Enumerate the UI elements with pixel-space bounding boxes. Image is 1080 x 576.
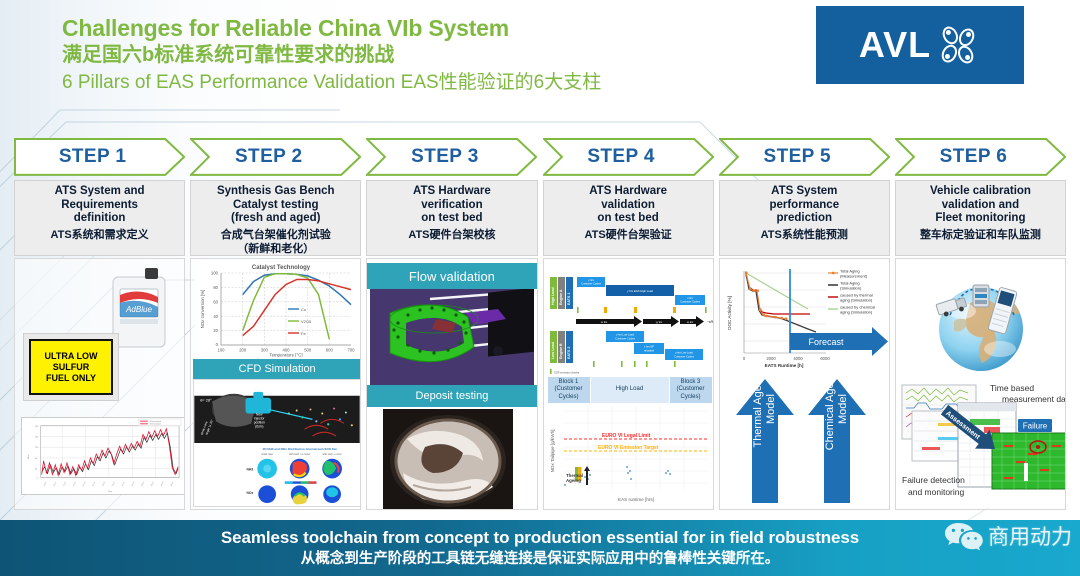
svg-text:Engine B: Engine B [559,343,563,359]
catalyst-technology-chart: Catalyst Technology [195,261,359,357]
ageing-model-arrows: Thermal AgeingModel Chemical AgeingModel [730,377,882,507]
ultra-low-sulfur-sign: ULTRA LOW SULFUR FUEL ONLY [29,339,113,395]
svg-text:y hrs Low Load: y hrs Low Load [616,333,634,337]
thermal-ageing-model-arrow: Thermal AgeingModel [734,377,796,505]
wechat-icon [944,520,984,552]
wechat-watermark: 商用动力 [944,520,1072,552]
flow-validation-cad-image [370,289,534,385]
forecast-label: Forecast [808,337,844,347]
banner-text-cn: 从概念到生产阶段的工具链无缝连接是保证实际应用中的鲁棒性关键所在。 [301,549,780,569]
time-based-caption-2: measurement dat [1002,394,1066,404]
svg-text:700: 700 [348,348,356,353]
failure-caption-2: and monitoring [908,487,965,497]
svg-text:Low Load: Low Load [551,342,555,359]
svg-text:Ageing: Ageing [566,478,581,483]
step-chevron-2[interactable]: STEP 2 [190,138,361,176]
cfd-distribution-title: 2D NH3 and NOx Distribution downstream S… [263,447,337,451]
step-card-row: ATS System andRequirementsdefinition ATS… [14,180,1066,256]
step-card-title-en-4: ATS Hardwarevalidationon test bed [589,185,667,226]
test-block-1: Block 1(CustomerCycles) [548,377,590,403]
step-card-6: Vehicle calibrationvalidation andFleet m… [895,180,1066,256]
chart-title-catalyst: Catalyst Technology [252,265,311,271]
svg-text:NH3: NH3 [247,468,254,472]
step-card-title-cn-2: 合成气台架催化剂试验（新鲜和老化） [221,228,331,256]
step-card-title-en-1: ATS System andRequirementsdefinition [55,185,145,226]
step-card-title-cn-1: ATS系统和需求定义 [50,228,148,242]
field-nox-trace-chart: 180160120 80400 NOx Time 00:00 00:30 01:… [21,417,185,495]
step-card-title-cn-6: 整车标定验证和车队监测 [920,228,1041,242]
test-block-row: Block 1(CustomerCycles) High Load Block … [548,377,712,403]
step-card-5: ATS Systemperformanceprediction ATS系统性能预… [719,180,890,256]
svg-text:with swirl, no mixer: with swirl, no mixer [289,452,311,456]
svg-text:300: 300 [261,348,269,353]
svg-text:with swirl + mixer: with swirl + mixer [323,452,343,456]
panel-step-4: High Load Engine A EATS 1 x hrs Customer… [543,258,714,510]
euro-vi-emission-target-label: EURO VI Emission Target [598,445,659,451]
step-chevron-label-1: STEP 1 [59,146,127,168]
svg-text:V2O5: V2O5 [301,319,312,324]
step-card-title-cn-4: ATS硬件台架验证 [585,228,672,242]
svg-text:y hrs EAS High Load: y hrs EAS High Load [627,289,653,293]
slide-root: Challenges for Reliable China VIb System… [0,0,1080,576]
svg-text:Time: Time [108,491,113,493]
test-cycle-schedule-diagram: High Load Engine A EATS 1 x hrs Customer… [546,263,714,375]
aging-xlabel: EATS Runtime [h] [764,363,803,368]
svg-text:initial case: initial case [261,452,273,456]
fleet-monitoring-illustration: Failure Assessment Time based measuremen… [898,375,1066,507]
test-block-2: High Load [591,377,669,403]
svg-text:aging (Simulation): aging (Simulation) [840,297,873,302]
page-title-chinese: 满足国六b标准系统可靠性要求的挑战 [62,42,822,69]
svg-text:6000: 6000 [820,356,830,361]
step-card-1: ATS System andRequirementsdefinition ATS… [14,180,185,256]
sulfur-sign-line-1: ULTRA LOW [45,351,98,362]
step-chevron-6[interactable]: STEP 6 [895,138,1066,176]
sulfur-sign-line-3: FUEL ONLY [46,373,96,384]
svg-text:reloaded: reloaded [643,349,654,353]
sulfur-sign-line-2: SULFUR [53,362,90,373]
svg-text:NOx: NOx [247,491,254,495]
svg-text:AdBlue: AdBlue [125,305,152,314]
svg-text:yy km: yy km [655,321,662,324]
step-card-2: Synthesis Gas BenchCatalyst testing(fres… [190,180,361,256]
test-block-3: Block 3(CustomerCycles) [670,377,712,403]
trace-legend: NOx measured NOx simulated [138,419,181,426]
step-card-4: ATS Hardwarevalidationon test bed ATS硬件台… [543,180,714,256]
svg-text:60: 60 [214,299,219,304]
svg-text:(Measurement): (Measurement) [840,273,868,278]
svg-text:(Simulation): (Simulation) [840,285,862,290]
step-chevron-5[interactable]: STEP 5 [719,138,890,176]
svg-text:200: 200 [239,348,247,353]
step-chevron-4[interactable]: STEP 4 [543,138,714,176]
page-subtitle: 6 Pillars of EAS Performance Validation … [62,69,822,96]
deposit-testing-photo [383,409,513,509]
step-chevron-label-4: STEP 4 [587,146,655,168]
svg-text:y hrs Low Load: y hrs Low Load [675,351,693,355]
svg-text:xx km: xx km [686,321,693,324]
svg-text:Fe: Fe [301,331,306,336]
time-based-caption-1: Time based [990,383,1034,393]
chart-ylabel-catalyst: NOx conversion [%] [200,290,205,329]
step-card-title-en-3: ATS Hardwareverificationon test bed [413,185,491,226]
svg-text:600: 600 [326,348,334,353]
failure-caption-1: Failure detection [902,475,965,485]
svg-text:100: 100 [218,348,226,353]
flow-validation-bar: Flow validation [367,263,536,289]
svg-text:EATS 1: EATS 1 [567,293,571,305]
svg-text:Customer Cycles: Customer Cycles [615,337,635,341]
banner-text-en: Seamless toolchain from concept to produ… [221,527,859,549]
distance-note: ~x/900 km [707,320,714,324]
svg-text:EATS 2: EATS 2 [567,347,571,359]
svg-text:xx km: xx km [600,321,607,324]
svg-text:2000: 2000 [766,356,776,361]
deposit-testing-bar: Deposit testing [367,385,536,407]
svg-text:aging (Simulation): aging (Simulation) [840,309,873,314]
svg-text:x hrs: x hrs [687,296,693,300]
cfd-simulation-image: θ= 28° Newinjector position(6cm) spray c… [193,379,361,507]
avl-logo: AVL [816,6,1024,84]
step-chevron-1[interactable]: STEP 1 [14,138,185,176]
cfd-angle-label: θ= 28° [200,398,212,403]
svg-text:High Load: High Load [551,287,555,305]
failure-badge: Failure [1023,422,1048,431]
step-card-title-en-5: ATS Systemperformanceprediction [769,185,839,226]
cfd-simulation-bar: CFD Simulation [193,359,361,379]
step-card-title-en-6: Vehicle calibrationvalidation andFleet m… [930,185,1031,226]
panel-row: AdBlue ULTRA LOW SULFUR FUEL ONLY [14,258,1066,510]
step-card-title-en-2: Synthesis Gas BenchCatalyst testing(fres… [217,185,335,226]
step-card-title-cn-5: ATS系统性能预测 [761,228,848,242]
svg-text:Customer Cycles: Customer Cycles [680,300,700,304]
step-chevron-3[interactable]: STEP 3 [366,138,537,176]
fleet-globe-illustration [918,263,1044,375]
svg-text:x hrs: x hrs [588,278,594,282]
svg-text:100: 100 [211,271,219,276]
check-note: SCR emission checks [554,371,580,375]
avl-wordmark: AVL [859,27,931,63]
watermark-label: 商用动力 [988,521,1072,551]
page-title: Challenges for Reliable China VIb System [62,14,822,42]
bottom-banner: Seamless toolchain from concept to produ… [0,520,1080,576]
svg-text:Engine A: Engine A [559,289,563,305]
svg-text:4000: 4000 [793,356,803,361]
chart-xlabel-catalyst: Temperature [°C] [270,353,303,358]
chemical-ageing-model-arrow: Chemical AgeingModel [806,377,868,505]
header: Challenges for Reliable China VIb System… [0,0,1080,112]
svg-text:(6cm): (6cm) [255,424,263,428]
svg-text:500: 500 [304,348,312,353]
panel-step-3: Flow validation [366,258,537,510]
svg-text:Customer Cycles: Customer Cycles [581,282,601,286]
tailpipe-ylabel: NOx Tailpipe [g/kWh] [550,430,555,473]
euro-vi-legal-limit-label: EURO VI Legal Limit [602,433,651,439]
panel-step-2: Catalyst Technology [190,258,361,510]
step-chevron-label-2: STEP 2 [235,146,303,168]
tailpipe-xlabel: EAS runtime [hrs] [618,497,654,502]
svg-text:80: 80 [214,285,219,290]
aging-ylabel: DOC Activity [%] [727,296,732,330]
avl-four-leaf-icon [935,22,981,68]
step-chevron-row: STEP 1 STEP 2 STEP 3 STEP 4 STEP 5 [14,138,1066,176]
panel-step-1: AdBlue ULTRA LOW SULFUR FUEL ONLY [14,258,185,510]
svg-text:20: 20 [214,328,219,333]
doc-activity-aging-chart: Forecast Total Aging (Measurement) Total… [722,261,890,375]
svg-text:Customer Cycles: Customer Cycles [674,355,694,359]
svg-text:Cu: Cu [301,307,306,312]
step-chevron-label-5: STEP 5 [764,146,832,168]
step-chevron-label-3: STEP 3 [411,146,479,168]
step-card-title-cn-3: ATS硬件台架校核 [408,228,495,242]
svg-text:40: 40 [214,314,219,319]
panel-step-5: Forecast Total Aging (Measurement) Total… [719,258,890,510]
tailpipe-nox-chart: EURO VI Legal Limit EURO VI Emission Tar… [548,403,712,505]
title-block: Challenges for Reliable China VIb System… [62,14,822,96]
svg-text:x hrs DP: x hrs DP [644,345,654,349]
step-chevron-label-6: STEP 6 [940,146,1008,168]
panel-step-6: Failure Assessment Time based measuremen… [895,258,1066,510]
step-card-3: ATS Hardwareverificationon test bed ATS硬… [366,180,537,256]
